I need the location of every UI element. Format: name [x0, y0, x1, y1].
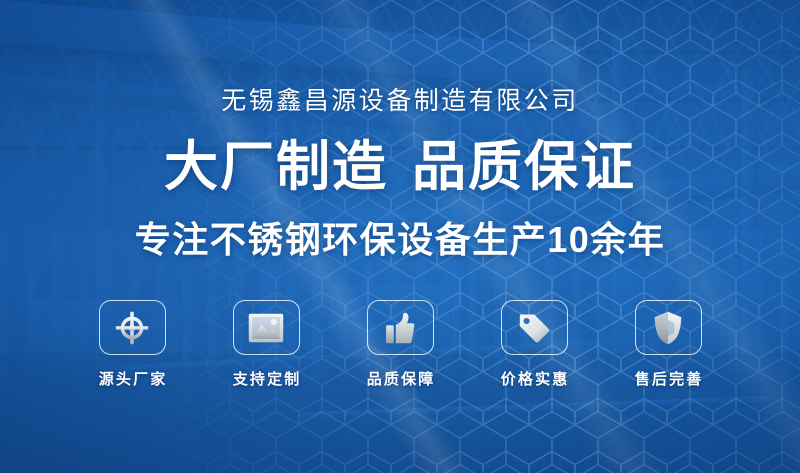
icon-box	[501, 300, 568, 355]
shield-icon	[654, 311, 682, 345]
banner-content: 无锡鑫昌源设备制造有限公司 大厂制造品质保证 专注不锈钢环保设备生产10余年	[0, 0, 800, 473]
image-picture-icon	[248, 313, 284, 343]
icon-box	[635, 300, 702, 355]
icon-box	[99, 300, 166, 355]
feature-item-quality-assurance[interactable]: 品质保障	[366, 300, 435, 389]
icon-box	[233, 300, 300, 355]
headline-part-2: 品质保证	[412, 137, 636, 197]
feature-item-after-sales[interactable]: 售后完善	[634, 300, 703, 389]
feature-label: 源头厂家	[97, 368, 168, 389]
icon-box	[367, 300, 434, 355]
feature-item-customization[interactable]: 支持定制	[232, 300, 301, 389]
feature-item-affordable-price[interactable]: 价格实惠	[500, 300, 569, 389]
sub-headline: 专注不锈钢环保设备生产10余年	[135, 222, 666, 258]
feature-label: 售后完善	[633, 368, 704, 389]
promo-banner: 无锡鑫昌源设备制造有限公司 大厂制造品质保证 专注不锈钢环保设备生产10余年	[0, 0, 800, 473]
thumbs-up-icon	[385, 312, 415, 344]
crosshair-target-icon	[115, 311, 149, 345]
price-tag-icon	[517, 312, 551, 344]
headline-part-1: 大厂制造	[164, 137, 388, 197]
feature-label: 支持定制	[231, 368, 302, 389]
feature-item-source-factory[interactable]: 源头厂家	[98, 300, 167, 389]
feature-list: 源头厂家	[98, 300, 703, 389]
company-name: 无锡鑫昌源设备制造有限公司	[221, 89, 579, 114]
feature-label: 品质保障	[365, 368, 436, 389]
feature-label: 价格实惠	[499, 368, 570, 389]
headline: 大厂制造品质保证	[164, 140, 636, 194]
